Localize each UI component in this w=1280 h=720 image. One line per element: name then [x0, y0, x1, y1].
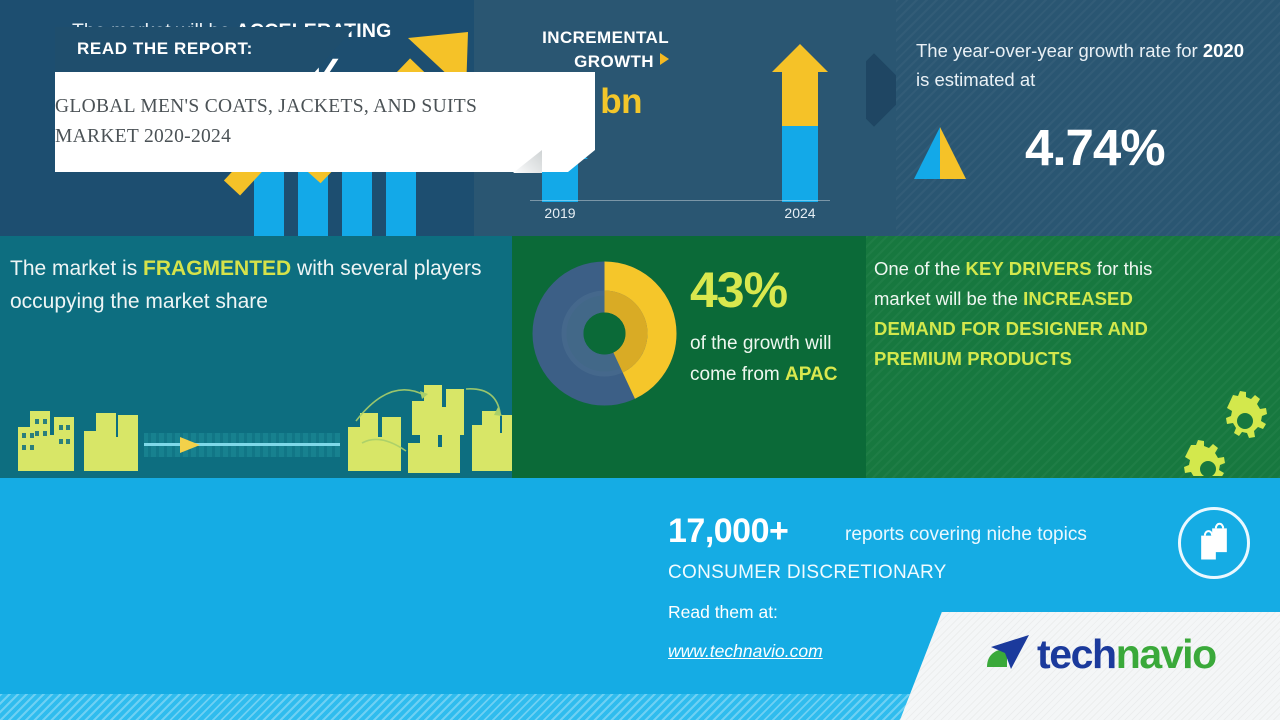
panel-apac: 43% of the growth will come from APAC	[512, 236, 866, 478]
technavio-logo[interactable]: technavio	[985, 626, 1216, 682]
drivers-text: One of the KEY DRIVERS for this market w…	[874, 254, 1204, 374]
yoy-text-bold: 2020	[1203, 40, 1244, 61]
technavio-url-link[interactable]: www.technavio.com	[668, 641, 823, 662]
report-count: 17,000+	[668, 512, 788, 551]
chevron-notch	[866, 0, 896, 236]
fragmented-text: The market is FRAGMENTED with several pl…	[10, 252, 500, 318]
fragmented-text-bold: FRAGMENTED	[143, 257, 291, 280]
city-buildings-icon	[4, 361, 512, 476]
technavio-word-part1: tech	[1037, 631, 1116, 677]
apac-subtext: of the growth will come from APAC	[690, 328, 866, 390]
report-category: CONSUMER DISCRETIONARY	[668, 562, 947, 584]
read-them-at-label: Read them at:	[668, 602, 778, 623]
incremental-axis-line	[530, 200, 830, 201]
report-count-subtitle: reports covering niche topics	[845, 524, 1087, 546]
technavio-word-part2: navio	[1116, 631, 1216, 677]
incremental-axis-2024: 2024	[770, 205, 830, 221]
technavio-wordmark: technavio	[1037, 633, 1216, 675]
apac-donut-chart	[532, 261, 677, 406]
yoy-text-post: is estimated at	[916, 69, 1035, 90]
yoy-text: The year-over-year growth rate for 2020 …	[916, 36, 1246, 94]
incremental-axis-2019: 2019	[530, 205, 590, 221]
panel-key-drivers: One of the KEY DRIVERS for this market w…	[866, 236, 1280, 478]
shopping-bags-icon	[1181, 510, 1247, 576]
drivers-text-pre: One of the	[874, 258, 966, 279]
technavio-mark-icon	[985, 633, 1031, 675]
read-the-report-tab: READ THE REPORT:	[55, 27, 355, 74]
infographic-root: The market will be ACCELERATING at a CAG…	[0, 0, 1280, 720]
apac-value: 43%	[690, 261, 787, 319]
apac-subtext-bold: APAC	[785, 364, 837, 385]
read-the-report-label: READ THE REPORT:	[77, 39, 253, 59]
drivers-text-bold1: KEY DRIVERS	[966, 258, 1092, 279]
yoy-value: 4.74%	[1025, 118, 1165, 177]
shopping-bags-circle	[1178, 507, 1250, 579]
fragmented-text-pre: The market is	[10, 257, 143, 280]
yoy-text-pre: The year-over-year growth rate for	[916, 40, 1203, 61]
gears-icon	[1167, 391, 1272, 476]
panel-fragmented: The market is FRAGMENTED with several pl…	[0, 236, 512, 478]
row-middle: The market is FRAGMENTED with several pl…	[0, 236, 1280, 478]
triangle-up-icon	[912, 125, 968, 181]
report-title: GLOBAL MEN'S COATS, JACKETS, AND SUITS M…	[55, 92, 555, 152]
